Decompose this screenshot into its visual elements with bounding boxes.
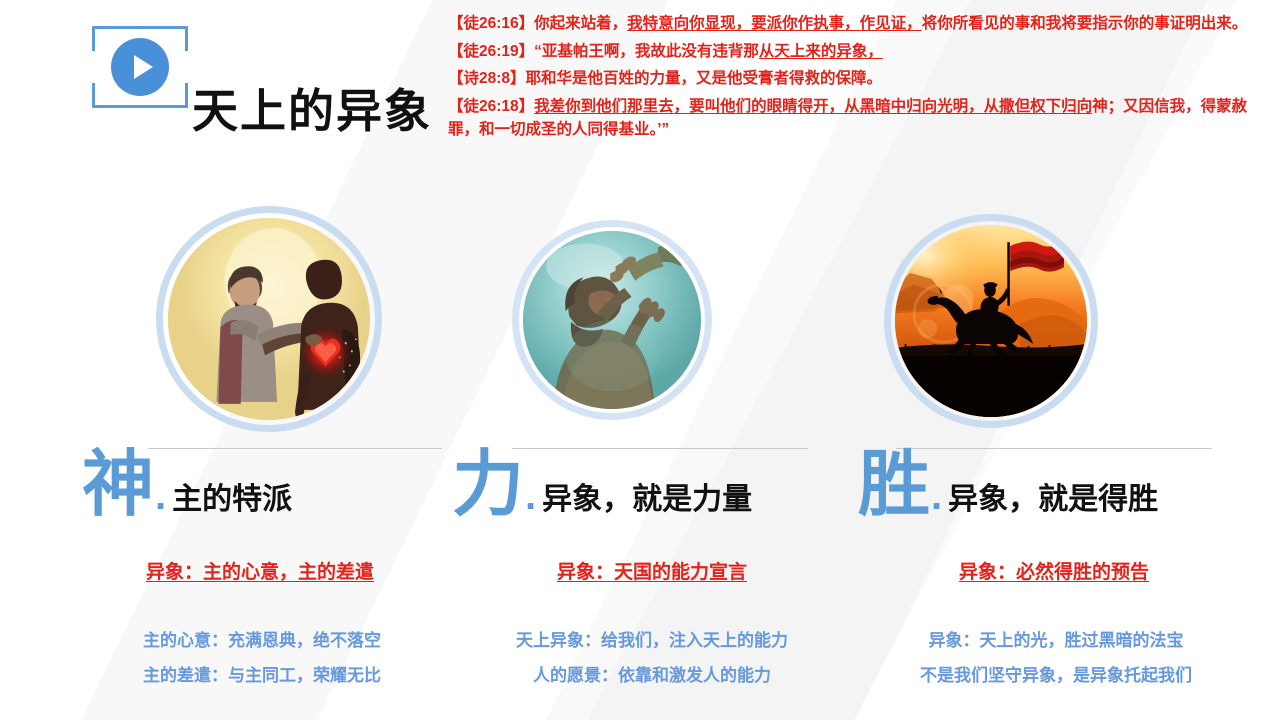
circle-image-3 (884, 214, 1098, 428)
scripture-text: 将你所看见的事和我将要指示你的事证明出来。 (922, 15, 1248, 32)
blue-line: 天上异象：给我们，注入天上的能力 (452, 624, 852, 659)
blue-line: 人的愿景：依靠和激发人的能力 (452, 659, 852, 694)
scripture-reference: 【徒26:16】 (448, 15, 534, 32)
scripture-reference: 【徒26:18】 (448, 98, 534, 115)
scripture-line: 【徒26:16】你起来站着，我特意向你显现，要派你作执事，作见证，将你所看见的事… (448, 12, 1268, 36)
blue-line: 主的心意：充满恩典，绝不落空 (64, 624, 460, 659)
column-headline-1: 神 . 主的特派 (60, 451, 460, 519)
scripture-text: “亚基帕王啊，我故此没有违背那 (534, 43, 759, 60)
blue-line: 不是我们坚守异象，是异象托起我们 (852, 659, 1260, 694)
headline-dot-3: . (931, 477, 942, 515)
slide-canvas: 天上的异象 【徒26:16】你起来站着，我特意向你显现，要派你作执事，作见证，将… (0, 0, 1280, 720)
page-title: 天上的异象 (192, 75, 432, 141)
big-character-3: 胜 (858, 451, 930, 519)
big-character-2: 力 (452, 451, 524, 519)
scripture-emphasis: 我差你到他们那里去，要叫他们的眼睛得开，从黑暗中归向光明，从撒但权下归向 (534, 98, 1092, 115)
headline-dot-2: . (525, 477, 536, 515)
blue-line: 主的差遣：与主同工，荣耀无比 (64, 659, 460, 694)
photo-3-art (895, 225, 1087, 417)
circle-image-2 (512, 220, 712, 420)
column-headline-3: 胜 . 异象，就是得胜 (848, 451, 1260, 519)
photo-1-art (168, 218, 370, 420)
headline-dot-1: . (155, 477, 166, 515)
scripture-line: 【徒26:18】我差你到他们那里去，要叫他们的眼睛得开，从黑暗中归向光明，从撒但… (448, 95, 1268, 142)
scripture-text: 耶和华是他百姓的力量，又是他受膏者得救的保障。 (526, 70, 883, 87)
column-subtitle-2: 异象，就是力量 (542, 474, 752, 518)
bracket-edge-top (120, 26, 160, 29)
content-column-2: 力 . 异象，就是力量 异象：天国的能力宣言 天上异象：给我们，注入天上的能力 … (452, 448, 852, 694)
column-red-line-1: 异象：主的心意，主的差遣 (60, 557, 460, 584)
column-headline-2: 力 . 异象，就是力量 (452, 451, 852, 519)
column-divider-3 (896, 448, 1212, 449)
photo-jesus-touching-dark-figure (168, 218, 370, 420)
scripture-reference: 【诗28:8】 (448, 70, 526, 87)
photo-horseman-red-flag-sunset (895, 225, 1087, 417)
scripture-line: 【徒26:19】“亚基帕王啊，我故此没有违背那从天上来的异象， (448, 40, 1268, 64)
bracket-edge-bottom (120, 105, 160, 108)
column-subtitle-1: 主的特派 (172, 474, 292, 518)
column-divider-1 (148, 448, 442, 449)
photo-2-art (523, 231, 701, 409)
column-blue-lines-1: 主的心意：充满恩典，绝不落空 主的差遣：与主同工，荣耀无比 (60, 624, 460, 694)
column-subtitle-3: 异象，就是得胜 (948, 474, 1158, 518)
blue-line: 异象：天上的光，胜过黑暗的法宝 (852, 624, 1260, 659)
content-column-1: 神 . 主的特派 异象：主的心意，主的差遣 主的心意：充满恩典，绝不落空 主的差… (60, 448, 460, 694)
play-button-icon (92, 26, 188, 108)
scripture-emphasis: 从天上来的异象， (759, 43, 883, 60)
photo-man-reaching-divine-hand (523, 231, 701, 409)
scripture-block: 【徒26:16】你起来站着，我特意向你显现，要派你作执事，作见证，将你所看见的事… (448, 12, 1268, 146)
column-blue-lines-2: 天上异象：给我们，注入天上的能力 人的愿景：依靠和激发人的能力 (452, 624, 852, 694)
scripture-text: 你起来站着， (534, 15, 627, 32)
column-blue-lines-3: 异象：天上的光，胜过黑暗的法宝 不是我们坚守异象，是异象托起我们 (848, 624, 1260, 694)
scripture-emphasis: 我特意向你显现，要派你作执事，作见证， (627, 15, 922, 32)
bracket-corner-bottom-right (157, 83, 188, 108)
circle-image-1 (156, 206, 382, 432)
play-triangle-icon (134, 55, 153, 79)
column-divider-2 (512, 448, 808, 449)
column-red-line-2: 异象：天国的能力宣言 (452, 557, 852, 584)
play-circle-icon (111, 38, 169, 96)
big-character-1: 神 (82, 451, 154, 519)
content-column-3: 胜 . 异象，就是得胜 异象：必然得胜的预告 异象：天上的光，胜过黑暗的法宝 不… (848, 448, 1260, 694)
scripture-reference: 【徒26:19】 (448, 43, 534, 60)
column-red-line-3: 异象：必然得胜的预告 (848, 557, 1260, 584)
scripture-line: 【诗28:8】耶和华是他百姓的力量，又是他受膏者得救的保障。 (448, 67, 1268, 91)
